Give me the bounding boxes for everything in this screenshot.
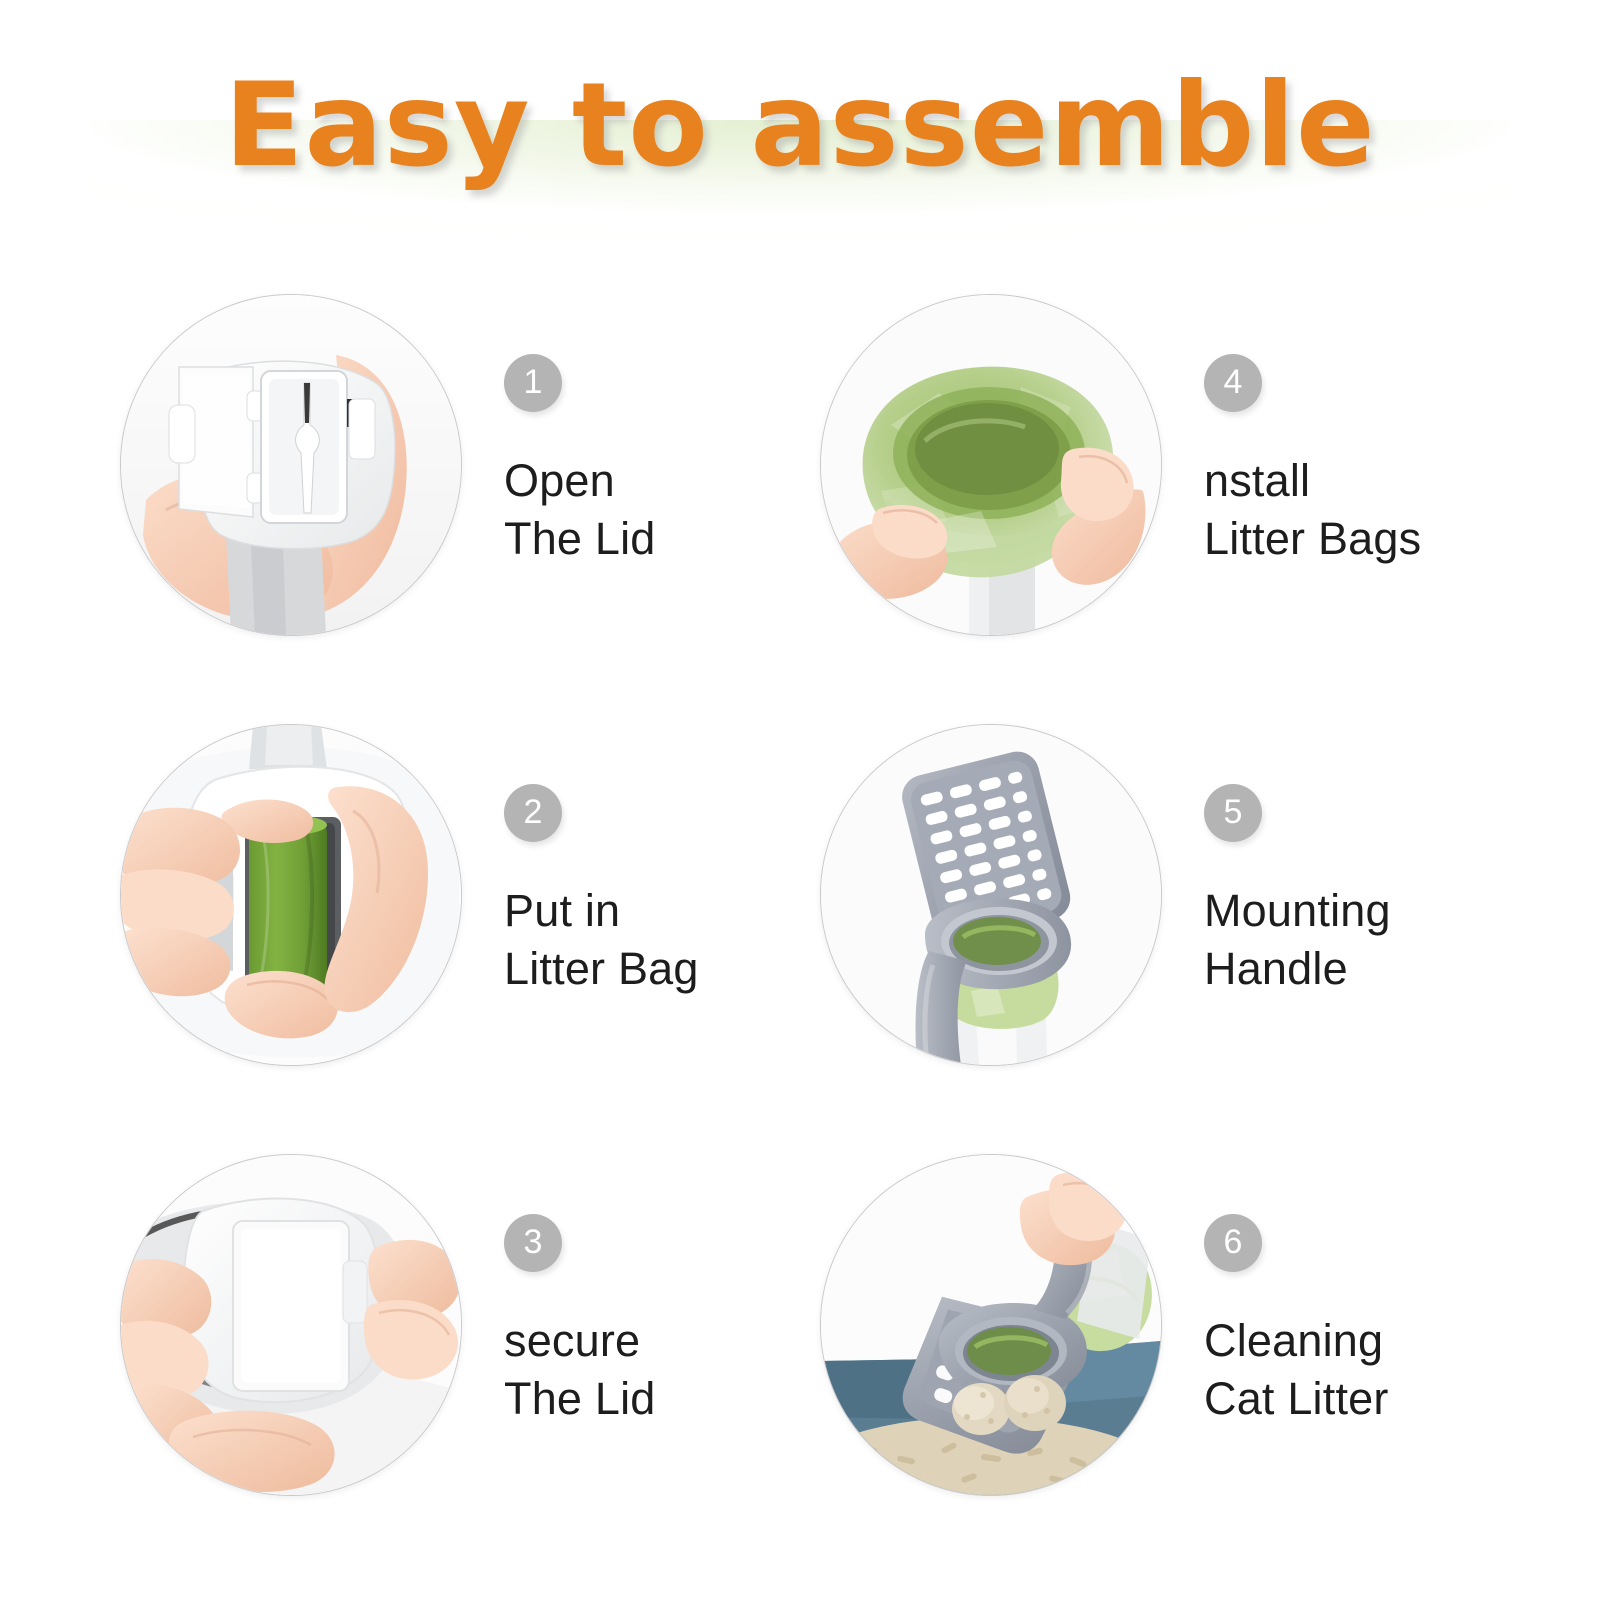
photo-secure-lid-illustration xyxy=(121,1155,461,1495)
step-card-2: 2 Put in Litter Bag xyxy=(100,680,800,1110)
photo-mounting-handle xyxy=(820,724,1162,1066)
step-badge-1: 1 xyxy=(504,354,562,412)
step-label-2-line1: Put in xyxy=(504,882,800,941)
step-label-6-line1: Cleaning xyxy=(1204,1312,1500,1371)
step-text-3: 3 secure The Lid xyxy=(462,1214,800,1437)
photo-put-in-litter-bag xyxy=(120,724,462,1066)
step-text-5: 5 Mounting Handle xyxy=(1162,784,1500,1007)
photo-mounting-handle-illustration xyxy=(821,725,1161,1065)
step-card-3: 3 secure The Lid xyxy=(100,1110,800,1540)
step-label-5-line2: Handle xyxy=(1204,940,1500,999)
step-label-1-line2: The Lid xyxy=(504,510,800,569)
photo-install-litter-bags xyxy=(820,294,1162,636)
infographic-page: Easy to assemble xyxy=(0,0,1600,1600)
photo-put-in-litter-bag-illustration xyxy=(121,725,461,1065)
step-label-2-line2: Litter Bag xyxy=(504,940,800,999)
step-label-3-line1: secure xyxy=(504,1312,800,1371)
step-card-1: 1 Open The Lid xyxy=(100,250,800,680)
step-label-1-line1: Open xyxy=(504,452,800,511)
step-badge-5: 5 xyxy=(1204,784,1262,842)
photo-secure-lid xyxy=(120,1154,462,1496)
step-text-4: 4 nstall Litter Bags xyxy=(1162,354,1500,577)
step-badge-3: 3 xyxy=(504,1214,562,1272)
photo-cleaning-cat-litter-illustration xyxy=(821,1155,1161,1495)
step-badge-4: 4 xyxy=(1204,354,1262,412)
photo-cleaning-cat-litter xyxy=(820,1154,1162,1496)
steps-grid: 1 Open The Lid xyxy=(0,250,1600,1600)
step-card-4: 4 nstall Litter Bags xyxy=(800,250,1500,680)
step-card-6: 6 Cleaning Cat Litter xyxy=(800,1110,1500,1540)
photo-open-lid-illustration xyxy=(121,295,461,635)
step-label-6-line2: Cat Litter xyxy=(1204,1370,1500,1429)
step-label-5-line1: Mounting xyxy=(1204,882,1500,941)
step-label-4-line1: nstall xyxy=(1204,452,1500,511)
photo-open-lid xyxy=(120,294,462,636)
header: Easy to assemble xyxy=(0,0,1600,250)
step-label-4-line2: Litter Bags xyxy=(1204,510,1500,569)
step-text-2: 2 Put in Litter Bag xyxy=(462,784,800,1007)
step-text-6: 6 Cleaning Cat Litter xyxy=(1162,1214,1500,1437)
step-badge-2: 2 xyxy=(504,784,562,842)
step-card-5: 5 Mounting Handle xyxy=(800,680,1500,1110)
photo-install-litter-bags-illustration xyxy=(821,295,1161,635)
step-text-1: 1 Open The Lid xyxy=(462,354,800,577)
step-badge-6: 6 xyxy=(1204,1214,1262,1272)
step-label-3-line2: The Lid xyxy=(504,1370,800,1429)
page-title: Easy to assemble xyxy=(0,58,1600,193)
